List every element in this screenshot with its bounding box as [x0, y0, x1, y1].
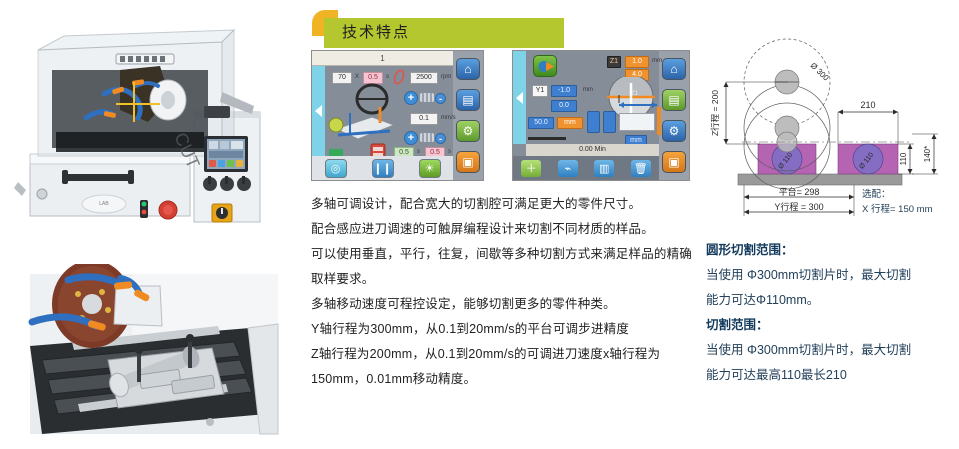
hmi-right-main: Y1 -1.0 mm 0.0 Z1 1.0 mm 4.0 Z1 50.0 — [513, 51, 659, 180]
hmi-left-rail: ⌂ ▤ ⚙ ▣ — [453, 51, 483, 180]
field-feed[interactable]: 0.1 — [410, 113, 438, 125]
field-z-value[interactable]: 1.0 — [625, 56, 649, 68]
feature-paragraph: 多轴移动速度可程控设定，能够切割更多的零件种类。 — [311, 292, 703, 317]
range-heading-circular: 圆形切割范围： — [706, 238, 956, 263]
label-len-210: 210 — [860, 100, 875, 110]
machine-schematic-icon — [328, 83, 400, 145]
feed-slider[interactable] — [420, 133, 434, 142]
feature-paragraph: 配合感应进刀调速的可触屏编程设计来切割不同材质的样品。 — [311, 217, 703, 242]
floppy-icon[interactable]: ▥ — [593, 159, 615, 178]
field-y-second[interactable]: 0.0 — [551, 100, 577, 112]
label-rpm-unit: rpm — [441, 74, 451, 80]
pause-icon[interactable]: ❙❙ — [372, 159, 394, 178]
save-icon[interactable]: ▤ — [456, 89, 480, 111]
feature-paragraph: Y轴行程为300mm，从0.1到20mm/s的平台可调步进精度 — [311, 317, 703, 342]
feature-paragraph: 可以使用垂直，平行，往复，间歇等多种切割方式来满足样品的精确取样要求。 — [311, 242, 703, 292]
feature-paragraph: 多轴可调设计，配合宽大的切割腔可满足更大的零件尺寸。 — [311, 192, 703, 217]
stop-icon[interactable]: ▣ — [456, 151, 480, 173]
label-blade-dia: Ø 300 — [809, 61, 831, 83]
field-speed-unit[interactable]: mm — [557, 117, 583, 129]
step-left-button[interactable] — [587, 111, 600, 133]
label-h-110: 110 — [899, 152, 908, 165]
hmi-screen-right[interactable]: Y1 -1.0 mm 0.0 Z1 1.0 mm 4.0 Z1 50.0 — [512, 50, 690, 181]
hmi-right-toolbar: ＋ ⌁ ▥ 🗑 — [513, 156, 659, 180]
rotate-axis-icon[interactable] — [533, 55, 557, 77]
cutting-range-text: 圆形切割范围： 当使用 Φ300mm切割片时，最大切割 能力可达Φ110mm。 … — [706, 238, 956, 388]
range-line: 当使用 Φ300mm切割片时，最大切割 — [706, 263, 956, 288]
page-title: 技术特点 — [342, 23, 410, 43]
machine-photo: CUT LAB — [8, 14, 298, 236]
label-h-140: 140* — [923, 146, 932, 162]
label-x: X — [355, 74, 359, 80]
add-icon[interactable]: ＋ — [520, 159, 542, 178]
label-z-marker: Z1 — [631, 91, 638, 97]
hmi-left-title: 1 — [312, 51, 453, 66]
cycle-icon[interactable]: ◎ — [325, 159, 347, 178]
settings-icon[interactable]: ⚙ — [456, 120, 480, 142]
hmi-right-rail: ⌂ ▤ ⚙ ▣ — [659, 51, 689, 180]
field-rpm[interactable]: 2500 — [410, 72, 438, 84]
field-axis-z[interactable]: Z1 — [607, 56, 621, 68]
page-root: CUT LAB — [0, 0, 959, 449]
prev-page-arrow-right[interactable] — [513, 51, 526, 144]
decrease-rpm-button[interactable]: - — [435, 93, 446, 104]
feature-paragraph: Z轴行程为200mm，从0.1到20mm/s的可调进刀速度x轴行程为150mm，… — [311, 342, 703, 392]
prev-page-arrow[interactable] — [312, 66, 325, 156]
label-y-unit: mm — [583, 87, 593, 93]
settings-icon[interactable]: ⚙ — [662, 120, 686, 142]
field-y-value[interactable]: -1.0 — [551, 85, 577, 97]
home-icon[interactable]: ⌂ — [456, 58, 480, 80]
increase-feed-button[interactable]: + — [404, 131, 418, 145]
section-banner: 技术特点 — [312, 10, 564, 48]
label-z-stroke: Z行程 = 200 — [710, 90, 720, 136]
label-feed-unit: mm/s — [441, 115, 456, 121]
increase-rpm-button[interactable]: + — [404, 91, 418, 105]
usb-icon[interactable]: ⌁ — [557, 159, 579, 178]
label-val-b-unit: s — [448, 149, 451, 155]
label-y-stroke: Y行程 = 300 — [774, 201, 823, 212]
hmi-screen-left[interactable]: 1 70 X 0.5 s 2500 rpm + - 0.1 mm/s + - — [311, 50, 484, 181]
field-axis-y[interactable]: Y1 — [532, 85, 548, 97]
label-option-title: 选配： — [862, 188, 891, 200]
save-icon[interactable]: ▤ — [662, 89, 686, 111]
hmi-left-main: 1 70 X 0.5 s 2500 rpm + - 0.1 mm/s + - — [312, 51, 453, 180]
step-right-button[interactable] — [603, 111, 616, 133]
svg-text:LAB: LAB — [99, 201, 109, 207]
lamp-icon[interactable]: ☀ — [419, 159, 441, 178]
worktable-photo — [12, 264, 294, 444]
machine-bed — [738, 174, 902, 185]
cutting-range-diagram: Ø 110 Ø 110 Ø 300 Z行程 = 200 — [702, 34, 954, 234]
label-seconds: s — [386, 74, 389, 80]
range-line: 当使用 Φ300mm切割片时，最大切割 — [706, 338, 956, 363]
width-arrow-icon — [617, 99, 659, 111]
feature-description: 多轴可调设计，配合宽大的切割腔可满足更大的零件尺寸。 配合感应进刀调速的可触屏编… — [311, 192, 703, 392]
field-speed[interactable]: 50.0 — [528, 117, 554, 129]
status-indicator — [329, 149, 343, 156]
range-heading-general: 切割范围： — [706, 313, 956, 338]
range-line: 能力可达最高110最长210 — [706, 363, 956, 388]
part-preview — [619, 113, 655, 131]
blade-marker — [657, 107, 661, 135]
home-icon[interactable]: ⌂ — [662, 58, 686, 80]
status-line: 0.00 Min — [526, 144, 659, 156]
stop-icon[interactable]: ▣ — [662, 151, 686, 173]
range-line: 能力可达Φ110mm。 — [706, 288, 956, 313]
hmi-left-toolbar: ◎ ❙❙ ☀ — [312, 156, 453, 180]
trash-icon[interactable]: 🗑 — [630, 159, 652, 178]
label-val-a-unit: s — [417, 149, 420, 155]
divider — [528, 137, 566, 140]
label-platform: 平台= 298 — [779, 186, 820, 197]
rpm-slider[interactable] — [420, 93, 434, 102]
label-z-unit: mm — [652, 58, 662, 64]
decrease-feed-button[interactable]: - — [435, 133, 446, 144]
label-option-x: X 行程= 150 mm — [862, 203, 933, 215]
